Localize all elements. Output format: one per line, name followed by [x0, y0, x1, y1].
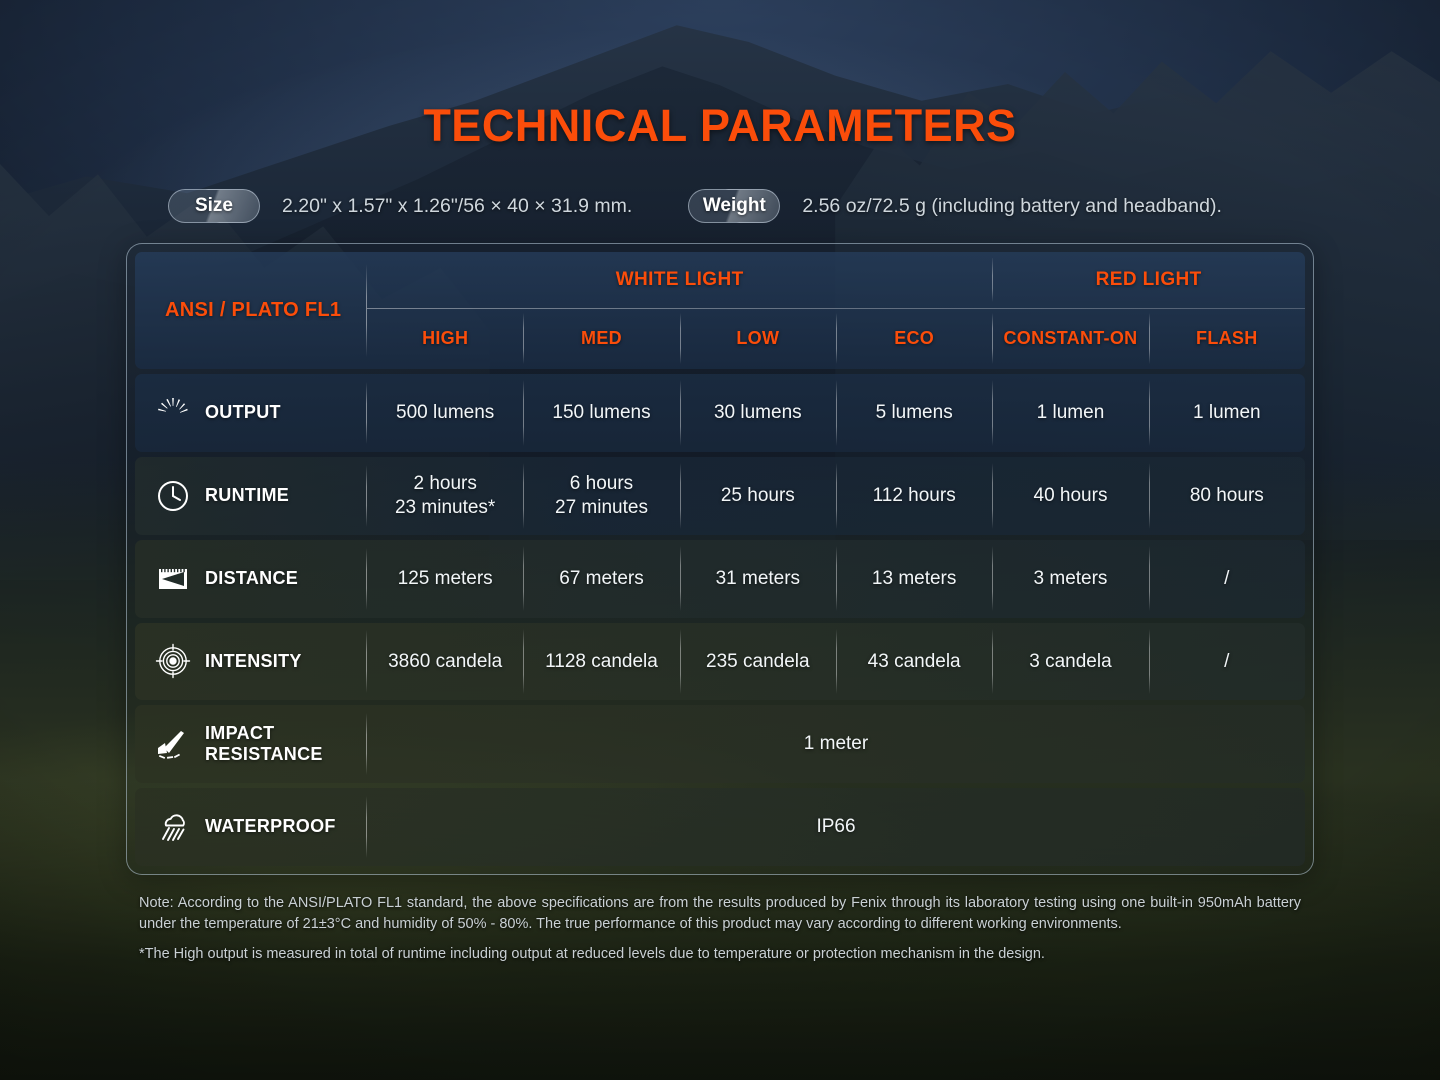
row-label-cell: OUTPUT	[135, 374, 367, 452]
table-header-row: ANSI / PLATO FL1 WHITE LIGHT RED LIGHT H…	[135, 252, 1305, 369]
row-label: OUTPUT	[205, 402, 281, 423]
row-label-cell: DISTANCE	[135, 540, 367, 618]
specs-table-panel: ANSI / PLATO FL1 WHITE LIGHT RED LIGHT H…	[126, 243, 1314, 875]
table-row: IMPACT RESISTANCE1 meter	[135, 705, 1305, 783]
table-corner-cell: ANSI / PLATO FL1	[135, 252, 367, 369]
table-row: RUNTIME2 hours 23 minutes*6 hours 27 min…	[135, 457, 1305, 535]
column-header-high: HIGH	[367, 308, 523, 369]
row-label: INTENSITY	[205, 651, 302, 672]
column-header-flash: FLASH	[1149, 308, 1305, 369]
weight-badge: Weight	[688, 189, 780, 223]
weight-value: 2.56 oz/72.5 g (including battery and he…	[802, 195, 1222, 218]
page-root: TECHNICAL PARAMETERS Size 2.20" x 1.57" …	[0, 0, 1440, 1080]
column-header-eco: ECO	[836, 308, 992, 369]
specs-table: ANSI / PLATO FL1 WHITE LIGHT RED LIGHT H…	[135, 252, 1305, 866]
row-cells: 1 meter	[367, 705, 1305, 783]
table-cell: 13 meters	[836, 540, 992, 618]
table-cell: 30 lumens	[680, 374, 836, 452]
row-label: DISTANCE	[205, 568, 298, 589]
table-cell: 1 lumen	[992, 374, 1148, 452]
row-label-cell: WATERPROOF	[135, 788, 367, 866]
table-cell: 43 candela	[836, 623, 992, 701]
column-header-med: MED	[523, 308, 679, 369]
table-cell: 5 lumens	[836, 374, 992, 452]
header-cells: WHITE LIGHT RED LIGHT HIGHMEDLOWECOCONST…	[367, 252, 1305, 369]
table-cell: 67 meters	[523, 540, 679, 618]
table-cell: 1128 candela	[523, 623, 679, 701]
ansi-plato-label: ANSI / PLATO FL1	[165, 299, 341, 322]
table-cell: 125 meters	[367, 540, 523, 618]
table-cell: 3 candela	[992, 623, 1148, 701]
header-groups: WHITE LIGHT RED LIGHT	[367, 252, 1305, 308]
row-label-cell: IMPACT RESISTANCE	[135, 705, 367, 783]
row-label: RUNTIME	[205, 485, 289, 506]
table-cell: 1 lumen	[1149, 374, 1305, 452]
table-cell: 80 hours	[1149, 457, 1305, 535]
table-cell: 40 hours	[992, 457, 1148, 535]
footnotes: Note: According to the ANSI/PLATO FL1 st…	[139, 893, 1301, 965]
page-title: TECHNICAL PARAMETERS	[0, 100, 1440, 152]
table-cell: 150 lumens	[523, 374, 679, 452]
table-cell: IP66	[367, 788, 1305, 866]
table-cell: 2 hours 23 minutes*	[367, 457, 523, 535]
table-cell: /	[1149, 540, 1305, 618]
row-label-cell: INTENSITY	[135, 623, 367, 701]
table-row: DISTANCE125 meters67 meters31 meters13 m…	[135, 540, 1305, 618]
table-cell: 500 lumens	[367, 374, 523, 452]
header-divider	[367, 308, 1305, 309]
impact-icon	[153, 724, 193, 764]
table-cell: /	[1149, 623, 1305, 701]
sunburst-icon	[153, 393, 193, 433]
footnote-asterisk: *The High output is measured in total of…	[139, 944, 1301, 965]
row-label: IMPACT RESISTANCE	[205, 723, 323, 765]
group-white-light: WHITE LIGHT	[367, 252, 992, 308]
row-cells: 3860 candela1128 candela235 candela43 ca…	[367, 623, 1305, 701]
group-red-light: RED LIGHT	[992, 252, 1305, 308]
table-cell: 31 meters	[680, 540, 836, 618]
table-cell: 235 candela	[680, 623, 836, 701]
table-row: INTENSITY3860 candela1128 candela235 can…	[135, 623, 1305, 701]
footnote-main: Note: According to the ANSI/PLATO FL1 st…	[139, 893, 1301, 935]
ruler-beam-icon	[153, 559, 193, 599]
table-cell: 3 meters	[992, 540, 1148, 618]
table-cell: 25 hours	[680, 457, 836, 535]
row-label: WATERPROOF	[205, 816, 336, 837]
row-cells: 500 lumens150 lumens30 lumens5 lumens1 l…	[367, 374, 1305, 452]
row-cells: IP66	[367, 788, 1305, 866]
column-header-constant-on: CONSTANT-ON	[992, 308, 1148, 369]
row-label-cell: RUNTIME	[135, 457, 367, 535]
header-columns: HIGHMEDLOWECOCONSTANT-ONFLASH	[367, 308, 1305, 369]
table-cell: 112 hours	[836, 457, 992, 535]
size-value: 2.20" x 1.57" x 1.26"/56 × 40 × 31.9 mm.	[282, 195, 632, 218]
table-cell: 1 meter	[367, 705, 1305, 783]
clock-icon	[153, 476, 193, 516]
target-icon	[153, 641, 193, 681]
table-cell: 6 hours 27 minutes	[523, 457, 679, 535]
row-cells: 2 hours 23 minutes*6 hours 27 minutes25 …	[367, 457, 1305, 535]
row-cells: 125 meters67 meters31 meters13 meters3 m…	[367, 540, 1305, 618]
column-header-low: LOW	[680, 308, 836, 369]
table-row: WATERPROOFIP66	[135, 788, 1305, 866]
spec-summary-row: Size 2.20" x 1.57" x 1.26"/56 × 40 × 31.…	[168, 188, 1288, 224]
rain-cloud-icon	[153, 807, 193, 847]
table-cell: 3860 candela	[367, 623, 523, 701]
size-badge: Size	[168, 189, 260, 223]
table-row: OUTPUT500 lumens150 lumens30 lumens5 lum…	[135, 374, 1305, 452]
